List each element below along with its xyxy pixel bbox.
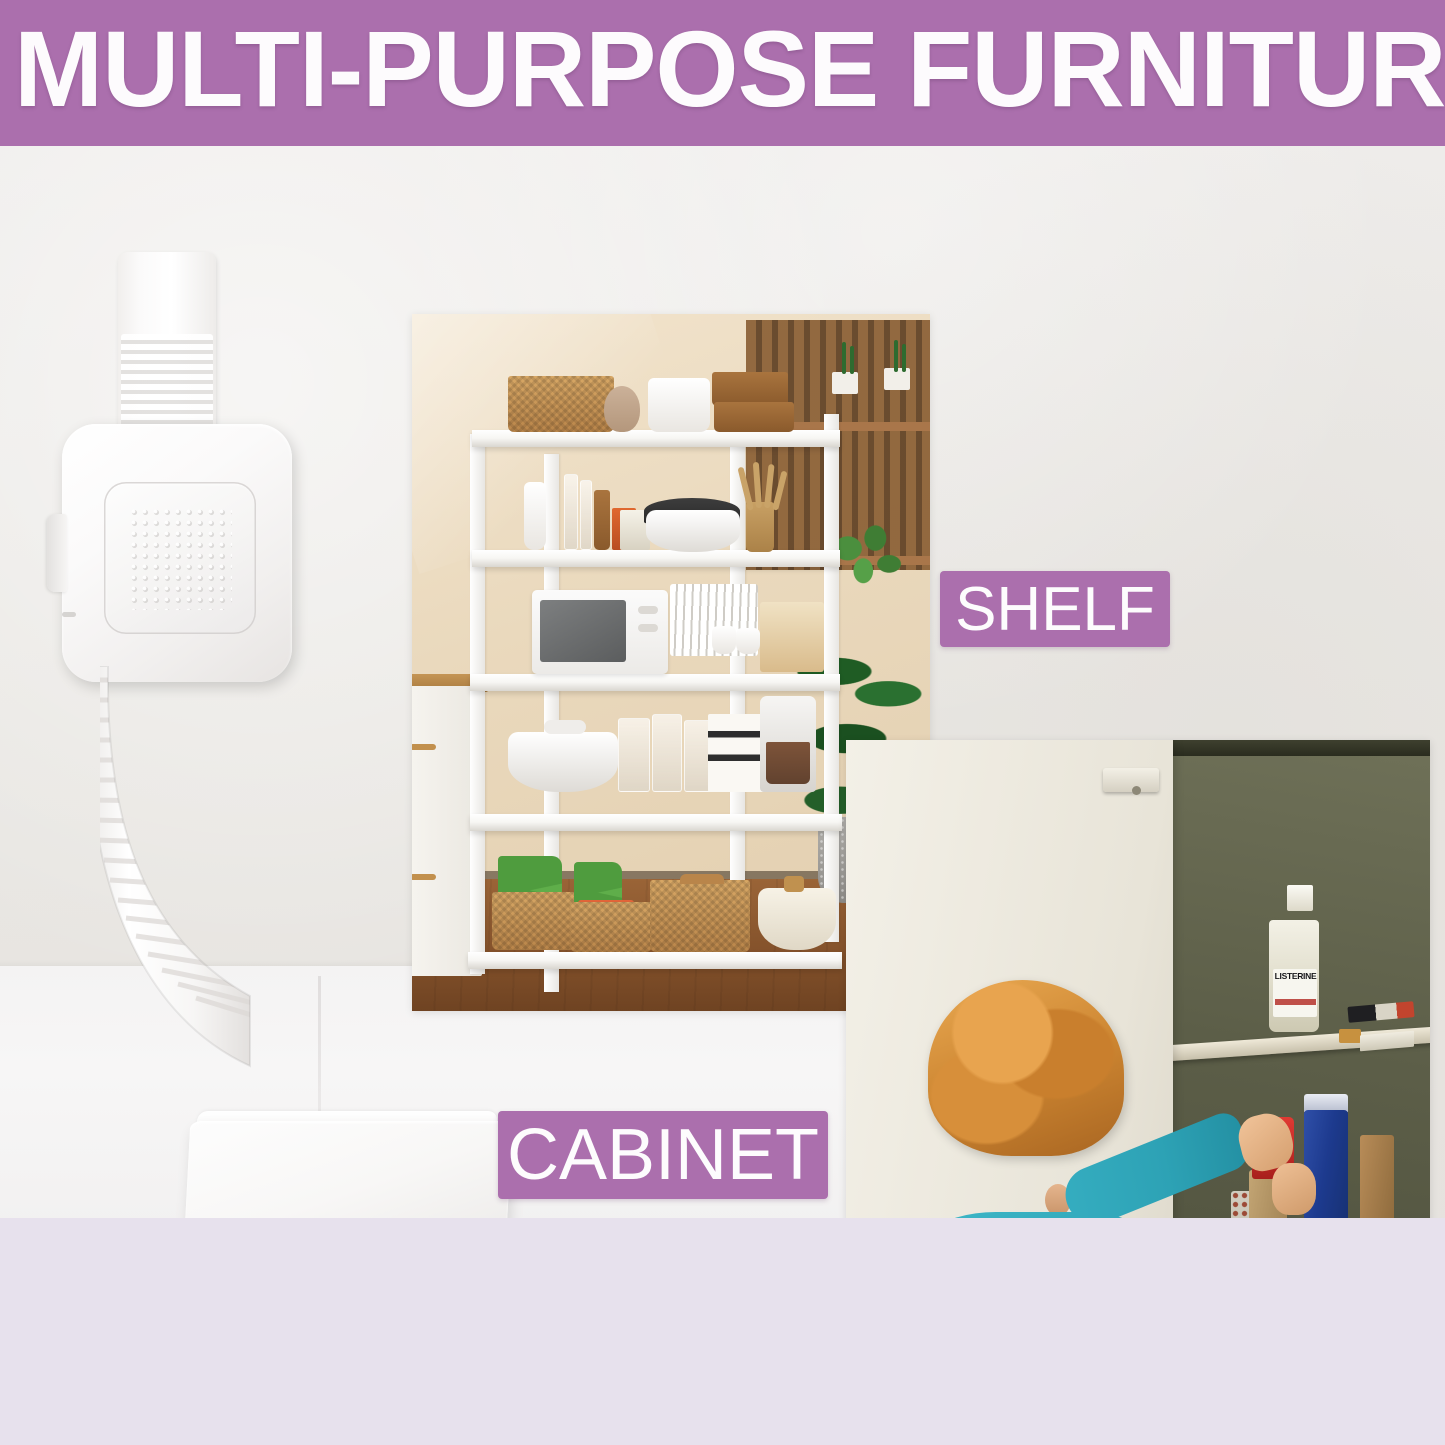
cabinet-top-rail — [1150, 740, 1430, 756]
spray-bottle — [524, 482, 546, 550]
cookie-box — [708, 714, 768, 792]
glass-jar-2 — [652, 714, 682, 792]
mini-plant-3 — [894, 340, 898, 372]
badge-shelf-label: SHELF — [955, 574, 1155, 645]
white-jar-top — [648, 378, 710, 432]
mini-planter-1 — [832, 372, 858, 394]
feature-strip: MICROWAVE DRAWERS REFRIGERATOR — [0, 1218, 1445, 1445]
coffee-maker — [760, 696, 816, 792]
badge-cabinet: CABINET — [498, 1111, 828, 1199]
page-title: MULTI-PURPOSE FURNITURE STRAPS — [14, 0, 1445, 142]
microwave-oven — [532, 590, 668, 674]
white-casserole — [508, 732, 618, 792]
coffee-carafe — [766, 742, 810, 784]
listerine-label: LISTERINE — [1273, 969, 1317, 1017]
rack-shelf-5 — [468, 952, 842, 969]
clay-vase — [604, 386, 640, 432]
cabinet-latch — [1103, 768, 1159, 792]
buckle-side-tab — [47, 514, 67, 592]
microwave-button-1 — [638, 606, 658, 614]
microwave-window — [540, 600, 626, 662]
bowl-2 — [736, 628, 760, 654]
tall-bottle-2 — [580, 480, 592, 550]
side-cabinet-handle-1 — [412, 744, 436, 750]
casserole-knob — [544, 720, 586, 734]
rack-shelf-1 — [472, 430, 840, 447]
sponge — [1339, 1029, 1361, 1043]
child-hand-right — [1272, 1163, 1316, 1215]
glass-jar-1 — [618, 718, 650, 792]
badge-shelf: SHELF — [940, 571, 1170, 647]
mini-plant-2 — [850, 346, 854, 374]
strap-ribs-upper — [121, 334, 213, 430]
bowl-1 — [712, 626, 736, 654]
strap-curved-section — [100, 666, 400, 1136]
mini-plant-4 — [902, 344, 906, 372]
storage-basket — [650, 880, 750, 952]
tall-bottle-1 — [564, 474, 578, 550]
rack-shelf-4 — [470, 814, 842, 831]
listerine-cap — [1287, 885, 1313, 911]
veg-basket-2 — [570, 902, 652, 952]
mini-plant-1 — [842, 342, 846, 374]
buckle-notch — [62, 612, 76, 617]
white-cooking-pot — [646, 510, 740, 552]
cabinet-latch-screw — [1132, 786, 1141, 795]
product-infographic: MULTI-PURPOSE FURNITURE STRAPS — [0, 0, 1445, 1445]
rack-shelf-2 — [472, 550, 840, 567]
basket-handle — [680, 874, 724, 884]
buckle-grip-dots — [128, 506, 232, 610]
snack-box — [760, 602, 824, 672]
microwave-button-2 — [638, 624, 658, 632]
wood-box-1 — [712, 372, 788, 406]
veg-basket-1 — [492, 892, 576, 950]
small-box — [594, 490, 610, 550]
side-cabinet-handle-2 — [412, 874, 436, 880]
rack-shelf-3 — [470, 674, 840, 691]
badge-cabinet-label: CABINET — [507, 1114, 819, 1196]
cream-pot — [758, 888, 836, 950]
wood-box-2 — [714, 402, 794, 432]
cream-pot-knob — [784, 876, 804, 892]
listerine-label-stripe — [1275, 999, 1316, 1005]
wicker-basket-top — [508, 376, 614, 432]
strap-base-pad — [182, 1121, 513, 1218]
rack-post-left-back — [470, 434, 485, 974]
header-banner: MULTI-PURPOSE FURNITURE STRAPS — [0, 0, 1445, 146]
